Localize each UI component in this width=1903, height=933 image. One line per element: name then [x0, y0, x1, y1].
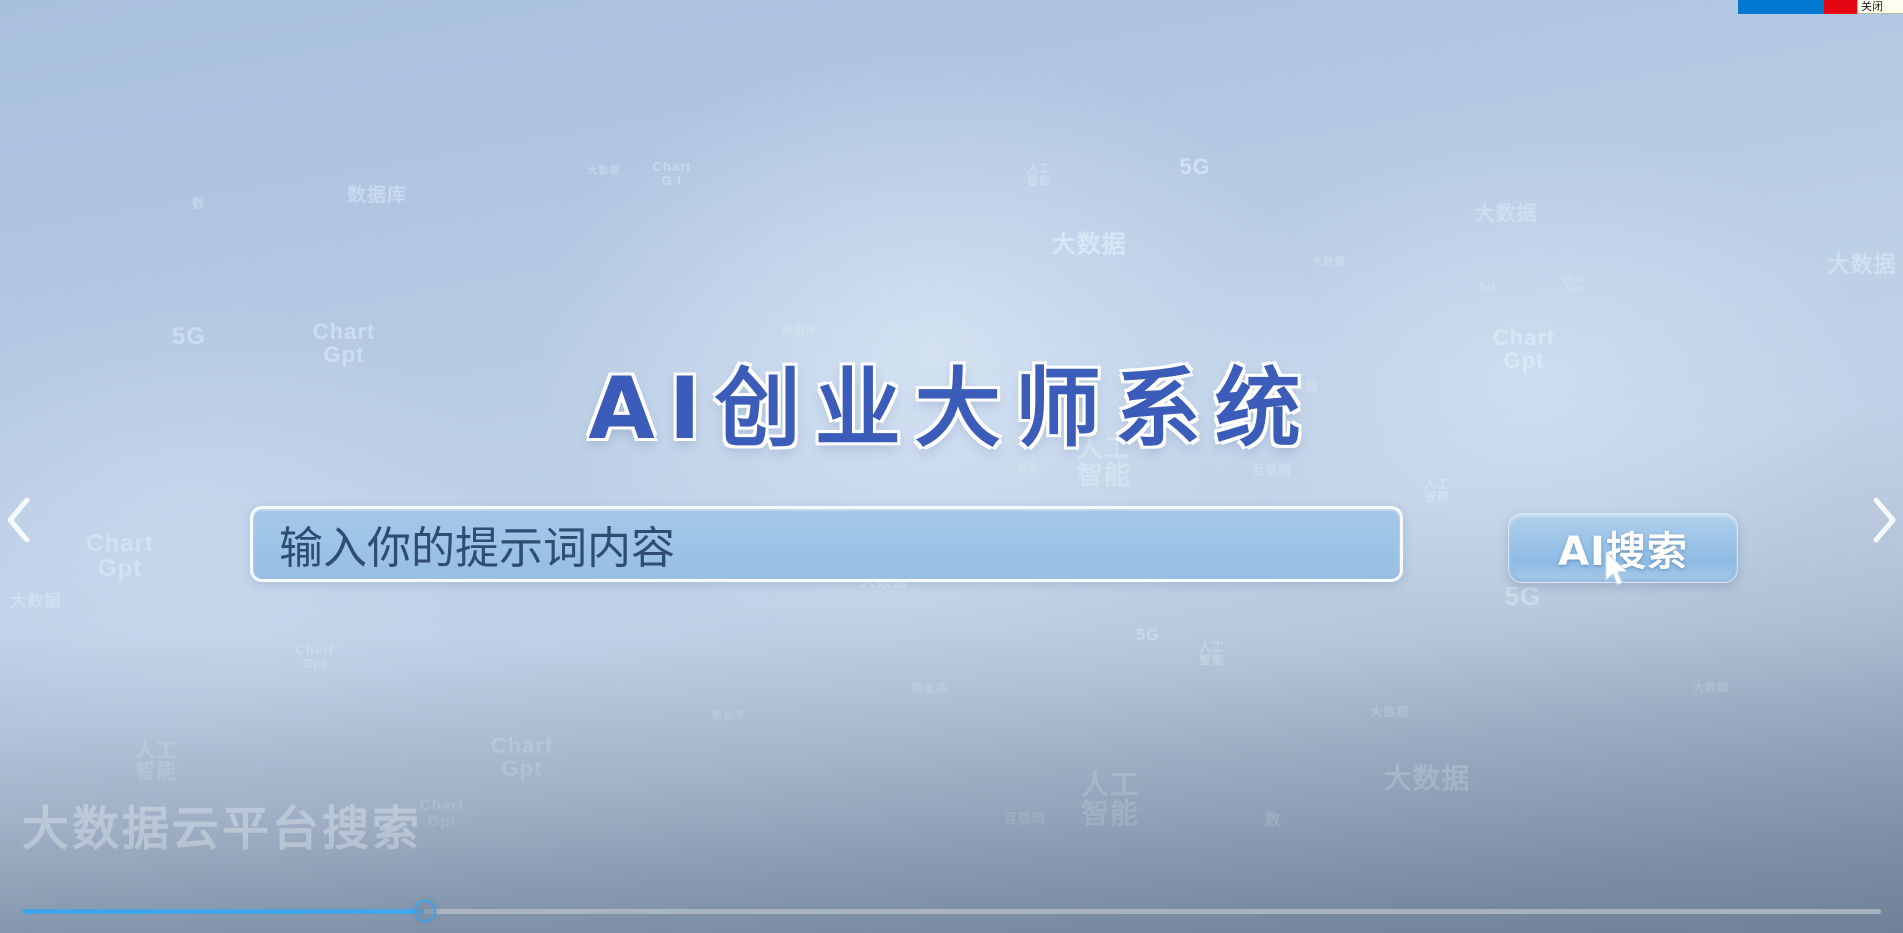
- hexagon-label: 数: [1264, 813, 1281, 830]
- hexagon-badge: 人工 智能: [1178, 622, 1246, 686]
- hexagon-inner-ring: [1059, 751, 1161, 848]
- hexagon-inner-ring: [1248, 797, 1299, 845]
- hexagon-badge: Chart Gpt: [468, 706, 576, 808]
- hexagon-inner-ring: [411, 784, 473, 843]
- hexagon-badge: 人工 智能: [1048, 740, 1172, 858]
- window-controls-bar: 关闭: [1738, 0, 1903, 14]
- hexagon-inner-ring: [1369, 724, 1485, 834]
- hexagon-label: Chart Gpt: [296, 643, 335, 670]
- hexagon-badge: 5G: [1118, 608, 1178, 664]
- hexagon-label: 人工 智能: [1424, 478, 1450, 503]
- hexagon-inner-ring: [329, 150, 426, 242]
- carousel-next-button[interactable]: [1866, 492, 1900, 548]
- hexagon-label: 大数据: [10, 594, 61, 611]
- hexagon-inner-ring: [1123, 613, 1172, 659]
- hexagon-label: 互联网: [1004, 812, 1046, 826]
- progress-slider[interactable]: [22, 900, 1881, 922]
- hexagon-inner-ring: [1686, 665, 1737, 713]
- hexagon-label: 人工 智能: [1081, 770, 1139, 829]
- hexagon-label: 数据库: [713, 712, 746, 723]
- hexagon-badge: 大数据: [1300, 236, 1358, 290]
- hexagon-inner-ring: [1184, 628, 1240, 681]
- hexagon-badge: 数: [176, 182, 222, 226]
- hexagon-badge: 人工 智能: [1010, 148, 1068, 204]
- hexagon-badge: Chart Gpt: [404, 778, 480, 850]
- hexagon-label: 大数据: [1383, 764, 1470, 793]
- hexagon-inner-ring: [1362, 686, 1418, 739]
- hexagon-badge: 大数据: [1680, 660, 1742, 718]
- hexagon-badge: 大数据: [1356, 680, 1424, 744]
- hexagon-label: 人工 智能: [1027, 164, 1051, 187]
- hexagon-badge: 数据库: [318, 140, 436, 252]
- hexagon-badge: 数据库: [898, 660, 962, 720]
- hexagon-inner-ring: [117, 724, 196, 799]
- hexagon-label: Chart Gpt: [491, 734, 553, 780]
- hexagon-label: 大数据: [588, 167, 621, 178]
- slider-handle[interactable]: [414, 900, 436, 922]
- close-button[interactable]: 关闭: [1857, 0, 1903, 14]
- hexagon-inner-ring: [996, 792, 1053, 846]
- hexagon-badge: 大数据: [1458, 170, 1554, 258]
- search-input[interactable]: 输入你的提示词内容: [250, 506, 1403, 582]
- hexagon-inner-ring: [1467, 178, 1546, 250]
- hexagon-inner-ring: [583, 152, 626, 191]
- chevron-left-icon: [3, 492, 37, 548]
- page-title: AI创业大师系统: [0, 338, 1903, 463]
- hexagon-inner-ring: [286, 630, 343, 684]
- hexagon-inner-ring: [1819, 225, 1903, 305]
- hexagon-inner-ring: [180, 186, 218, 222]
- hexagon-label: 大数据: [1693, 683, 1729, 695]
- hexagon-label: 数: [192, 197, 206, 211]
- hexagon-badge: 互联网: [990, 786, 1060, 852]
- hexagon-label: 大数据: [1313, 258, 1346, 269]
- topbar-red-segment: [1824, 0, 1857, 14]
- hexagon-label: Chart Gpt: [1561, 275, 1590, 294]
- hexagon-label: 5G: [1136, 628, 1159, 645]
- hexagon-badge: Chart Gpt: [1552, 262, 1598, 306]
- hexagon-inner-ring: [642, 146, 701, 202]
- hexagon-badge: 数据库: [700, 690, 758, 744]
- slider-fill: [22, 909, 425, 914]
- hexagon-inner-ring: [1556, 266, 1594, 302]
- ai-search-button[interactable]: AI搜索: [1508, 513, 1738, 583]
- hexagon-label: 互联网: [1252, 464, 1291, 477]
- hexagon-label: 数据库: [782, 326, 818, 338]
- hexagon-badge: 数: [1242, 792, 1304, 850]
- hexagon-label: 大数据: [1475, 204, 1538, 225]
- search-input-placeholder: 输入你的提示词内容: [279, 512, 675, 576]
- hexagon-inner-ring: [1467, 267, 1510, 308]
- hexagon-inner-ring: [705, 695, 753, 739]
- hexagon-label: 人工 智能: [135, 741, 177, 783]
- hexagon-badge: Chart G t: [636, 140, 708, 208]
- hexagon-badge: 大数据: [1810, 216, 1903, 314]
- hexagon-label: Chart G t: [653, 160, 692, 187]
- hexagon-inner-ring: [1165, 138, 1226, 195]
- hexagon-label: 数据库: [912, 684, 948, 696]
- hexagon-inner-ring: [1015, 153, 1063, 199]
- hexagon-label: 人工 智能: [1199, 641, 1225, 666]
- hexagon-badge: 人工 智能: [108, 716, 204, 808]
- hexagon-inner-ring: [1041, 200, 1138, 290]
- hexagon-badge: 大数据: [1030, 190, 1148, 300]
- carousel-prev-button[interactable]: [3, 492, 37, 548]
- topbar-blue-segment: [1738, 0, 1824, 14]
- hexagon-inner-ring: [478, 715, 567, 799]
- background-bottom-vignette: [0, 633, 1903, 933]
- chevron-right-icon: [1866, 492, 1900, 548]
- hexagon-badge: Chart Gpt: [280, 624, 350, 690]
- hexagon-badge: 大数据: [578, 148, 630, 196]
- search-row: 输入你的提示词内容 AI搜索: [0, 506, 1903, 588]
- hexagon-inner-ring: [904, 665, 957, 714]
- watermark-text: 大数据云平台搜索: [22, 790, 422, 859]
- hexagon-label: 5G: [1179, 155, 1210, 178]
- hexagon-inner-ring: [1305, 241, 1353, 285]
- hexagon-badge: 5G: [1462, 262, 1514, 312]
- hexagon-label: 数据库: [347, 186, 407, 206]
- hexagon-label: 大数据: [1052, 232, 1127, 257]
- hexagon-badge: 5G: [1158, 132, 1232, 202]
- hexagon-label: 大数据: [1370, 706, 1409, 719]
- hexagon-label: Chart Gpt: [420, 798, 464, 830]
- hexagon-label: 5G: [1479, 281, 1497, 294]
- app-root: 数据库大数据Chart G t5G大数据人工 智能大数据数5GChart Gpt…: [0, 0, 1903, 933]
- hexagon-label: 大数据: [1827, 253, 1896, 276]
- hexagon-badge: 大数据: [1356, 712, 1498, 846]
